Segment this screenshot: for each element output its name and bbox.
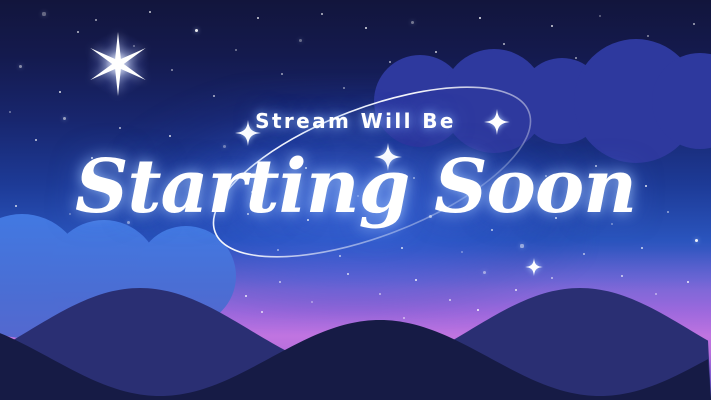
night-sky-gradient [0, 0, 711, 400]
stream-overlay-canvas: Stream Will Be Starting Soon [0, 0, 711, 400]
